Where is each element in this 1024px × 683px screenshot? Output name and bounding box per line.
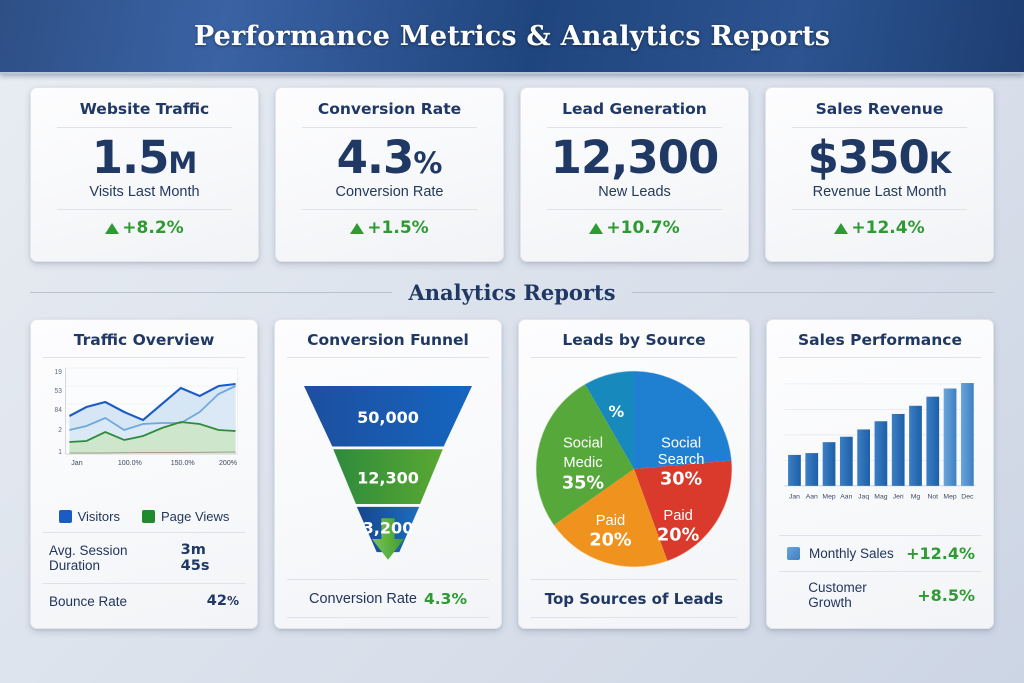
kpi-subtitle: Conversion Rate [336, 183, 444, 209]
pie-slice-label: Search [658, 452, 705, 468]
pie-caption: Top Sources of Leads [531, 580, 737, 617]
traffic-chart-svg: 19 53 84 2 1 Jan 100.0% 150.0% 200% [43, 364, 245, 476]
triangle-up-icon [589, 223, 603, 234]
y-tick-label: 53 [55, 388, 63, 395]
section-title: Analytics Reports [408, 280, 615, 305]
x-tick-label: 200% [219, 458, 238, 467]
y-tick-label: 1 [58, 449, 62, 456]
legend-swatch-icon [787, 547, 800, 560]
report-card-conversion-funnel[interactable]: Conversion Funnel [274, 319, 502, 629]
funnel-chart-svg: 50,000 12,300 3,200 [287, 371, 489, 571]
x-tick-label: Aan [806, 494, 818, 501]
report-card-sales-performance[interactable]: Sales Performance [766, 319, 994, 629]
kpi-card-website-traffic[interactable]: Website Traffic 1.5M Visits Last Month +… [30, 87, 259, 262]
y-tick-label: 19 [55, 369, 63, 376]
kpi-value-suffix: M [168, 147, 197, 179]
pie-slice-label: Social [563, 435, 603, 451]
x-tick-label: Mep [943, 494, 956, 501]
divider [287, 617, 489, 618]
stat-row-bounce-rate: Bounce Rate 42% [43, 584, 245, 618]
x-tick-label: Aan [840, 494, 852, 501]
x-tick-label: Jan [71, 458, 82, 467]
traffic-chart-legend: Visitors Page Views [43, 503, 245, 532]
funnel-footer: Conversion Rate 4.3% [287, 580, 489, 617]
legend-swatch-icon [59, 510, 72, 523]
funnel-stage-label: 3,200 [363, 518, 414, 537]
triangle-up-icon [105, 223, 119, 234]
x-tick-label: Jaq [858, 494, 869, 501]
traffic-area-chart: 19 53 84 2 1 Jan 100.0% 150.0% 200% [43, 358, 245, 503]
kpi-value: 1.5M [92, 128, 198, 183]
kpi-delta: +8.2% [105, 210, 183, 238]
legend-percent: +12.4% [906, 544, 975, 563]
kpi-value-suffix: K [929, 147, 951, 179]
kpi-title: Lead Generation [562, 100, 707, 127]
page-title: Performance Metrics & Analytics Reports [194, 21, 830, 52]
kpi-delta-value: +8.2% [122, 218, 183, 238]
x-tick-label: Jan [789, 494, 800, 501]
kpi-subtitle: New Leads [598, 183, 671, 209]
kpi-title: Sales Revenue [816, 100, 944, 127]
kpi-title: Conversion Rate [318, 100, 461, 127]
kpi-value-main: 4.3 [337, 133, 414, 183]
divider-line-right [632, 292, 994, 293]
stat-row-avg-session-duration: Avg. Session Duration 3m 45s [43, 533, 245, 583]
x-tick-label: Mag [874, 494, 887, 501]
legend-percent: +8.5% [917, 586, 975, 605]
kpi-subtitle: Revenue Last Month [813, 183, 947, 209]
triangle-up-icon [350, 223, 364, 234]
report-card-row: Traffic Overview 19 [0, 305, 1024, 629]
pie-slice-value: % [608, 402, 624, 421]
y-tick-label: 2 [58, 427, 62, 434]
kpi-delta: +1.5% [350, 210, 428, 238]
stat-value: 3m 45s [181, 542, 239, 574]
legend-item-monthly-sales: Monthly Sales +12.4% [779, 536, 981, 571]
legend-item-customer-growth: Customer Growth +8.5% [779, 572, 981, 618]
legend-item-page-views: Page Views [142, 509, 229, 524]
legend-label: Customer Growth [808, 580, 908, 610]
kpi-card-sales-revenue[interactable]: Sales Revenue $350K Revenue Last Month +… [765, 87, 994, 262]
kpi-delta: +12.4% [834, 210, 924, 238]
kpi-delta: +10.7% [589, 210, 679, 238]
pie-slice-label: Medic [563, 455, 602, 471]
stat-value-number: 42 [207, 593, 227, 609]
legend-item-visitors: Visitors [59, 509, 120, 524]
kpi-value: 12,300 [551, 128, 719, 183]
kpi-value-main: 12,300 [551, 133, 719, 183]
x-tick-label: Dec [961, 494, 974, 501]
funnel-stage-label: 12,300 [357, 468, 419, 487]
kpi-delta-value: +10.7% [606, 218, 679, 238]
report-card-leads-by-source[interactable]: Leads by Source Social Search [518, 319, 750, 629]
pie-slice-value: 30% [660, 469, 703, 489]
pie-chart-svg: Social Search 30% Paid 20% Paid 20% Soci… [531, 366, 737, 572]
pie-slice-label: Paid [596, 512, 625, 528]
legend-label: Monthly Sales [809, 546, 894, 561]
stat-value: 42% [207, 593, 239, 609]
pie-chart: Social Search 30% Paid 20% Paid 20% Soci… [531, 358, 737, 579]
kpi-card-lead-generation[interactable]: Lead Generation 12,300 New Leads +10.7% [520, 87, 749, 262]
y-tick-label: 84 [55, 407, 63, 414]
divider-line-left [30, 292, 392, 293]
kpi-card-conversion-rate[interactable]: Conversion Rate 4.3% Conversion Rate +1.… [275, 87, 504, 262]
triangle-up-icon [834, 223, 848, 234]
report-title: Sales Performance [779, 331, 981, 357]
funnel-footer-value: 4.3% [424, 590, 467, 608]
x-tick-label: 100.0% [118, 458, 142, 467]
funnel-footer-label: Conversion Rate [309, 591, 417, 607]
kpi-card-row: Website Traffic 1.5M Visits Last Month +… [0, 74, 1024, 262]
legend-label: Visitors [78, 509, 120, 524]
kpi-title: Website Traffic [80, 100, 209, 127]
sales-bar-chart: Jan Aan Mep Aan Jaq Mag Jeri Mg Not Mep … [779, 358, 981, 535]
pie-slice-value: 20% [589, 530, 632, 550]
pie-slice-value: 35% [562, 473, 605, 493]
x-tick-label: Jeri [893, 494, 904, 501]
sales-bar-chart-svg: Jan Aan Mep Aan Jaq Mag Jeri Mg Not Mep … [779, 364, 981, 524]
legend-label: Page Views [161, 509, 229, 524]
kpi-value: 4.3% [337, 128, 443, 183]
stat-label: Bounce Rate [49, 594, 127, 609]
funnel-chart: 50,000 12,300 3,200 [287, 358, 489, 579]
page-header: Performance Metrics & Analytics Reports [0, 0, 1024, 74]
analytics-section-divider: Analytics Reports [0, 262, 1024, 305]
stat-value-suffix: % [227, 594, 239, 608]
report-card-traffic-overview[interactable]: Traffic Overview 19 [30, 319, 258, 629]
divider [531, 617, 737, 618]
kpi-value-suffix: % [413, 147, 442, 179]
report-title: Conversion Funnel [287, 331, 489, 357]
pie-slice-label: Social [661, 435, 701, 451]
legend-swatch-icon [787, 589, 799, 602]
kpi-delta-value: +12.4% [851, 218, 924, 238]
kpi-delta-value: +1.5% [367, 218, 428, 238]
kpi-value-main: 1.5 [92, 133, 169, 183]
legend-swatch-icon [142, 510, 155, 523]
x-tick-label: 150.0% [171, 458, 195, 467]
report-title: Leads by Source [531, 331, 737, 357]
x-tick-label: Not [927, 494, 938, 501]
funnel-stage-label: 50,000 [357, 407, 419, 426]
pie-slice-label: Paid [663, 508, 692, 524]
kpi-value-main: $350 [808, 133, 929, 183]
report-title: Traffic Overview [43, 331, 245, 357]
pie-slice-value: 20% [657, 525, 700, 545]
x-tick-label: Mg [911, 494, 921, 501]
x-tick-label: Mep [822, 494, 835, 501]
kpi-subtitle: Visits Last Month [89, 183, 199, 209]
kpi-value: $350K [808, 128, 952, 183]
stat-label: Avg. Session Duration [49, 543, 181, 573]
